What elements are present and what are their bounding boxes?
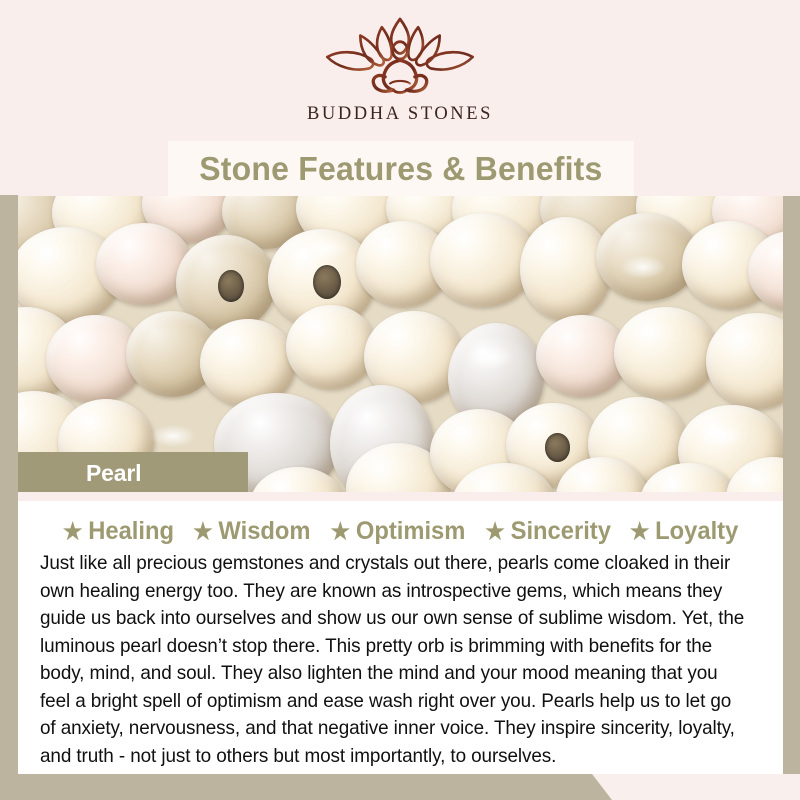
- benefit-healing: ★ Healing: [63, 517, 174, 546]
- stone-description: Just like all precious gemstones and cry…: [40, 550, 750, 770]
- content-panel: ★ Healing ★ Wisdom ★ Optimism ★ Sincerit…: [18, 501, 783, 774]
- benefit-label: Optimism: [355, 517, 465, 546]
- lotus-meditation-icon: [316, 14, 484, 100]
- benefit-label: Wisdom: [218, 517, 310, 546]
- star-icon: ★: [630, 520, 650, 543]
- star-icon: ★: [485, 520, 505, 543]
- stone-name: Pearl: [86, 460, 141, 487]
- logo-lockup: BUDDHA STONES: [0, 14, 800, 125]
- benefit-wisdom: ★ Wisdom: [193, 517, 310, 546]
- benefit-label: Loyalty: [655, 517, 738, 546]
- benefit-label: Healing: [88, 517, 174, 546]
- brand-wordmark: BUDDHA STONES: [307, 104, 493, 125]
- photo-panel-divider: [18, 492, 783, 501]
- star-icon: ★: [330, 520, 350, 543]
- frame-left-bar: [0, 195, 18, 800]
- infographic-page: BUDDHA STONES Stone Features & Benefits: [0, 0, 800, 800]
- benefit-sincerity: ★ Sincerity: [485, 517, 611, 546]
- title-banner: Stone Features & Benefits: [168, 141, 634, 196]
- benefit-label: Sincerity: [510, 517, 610, 546]
- star-icon: ★: [63, 520, 83, 543]
- benefit-optimism: ★ Optimism: [330, 517, 465, 546]
- benefit-loyalty: ★ Loyalty: [630, 517, 738, 546]
- star-icon: ★: [193, 520, 213, 543]
- benefits-row: ★ Healing ★ Wisdom ★ Optimism ★ Sincerit…: [40, 517, 761, 546]
- page-title: Stone Features & Benefits: [199, 150, 602, 188]
- stone-name-band: Pearl: [18, 452, 248, 495]
